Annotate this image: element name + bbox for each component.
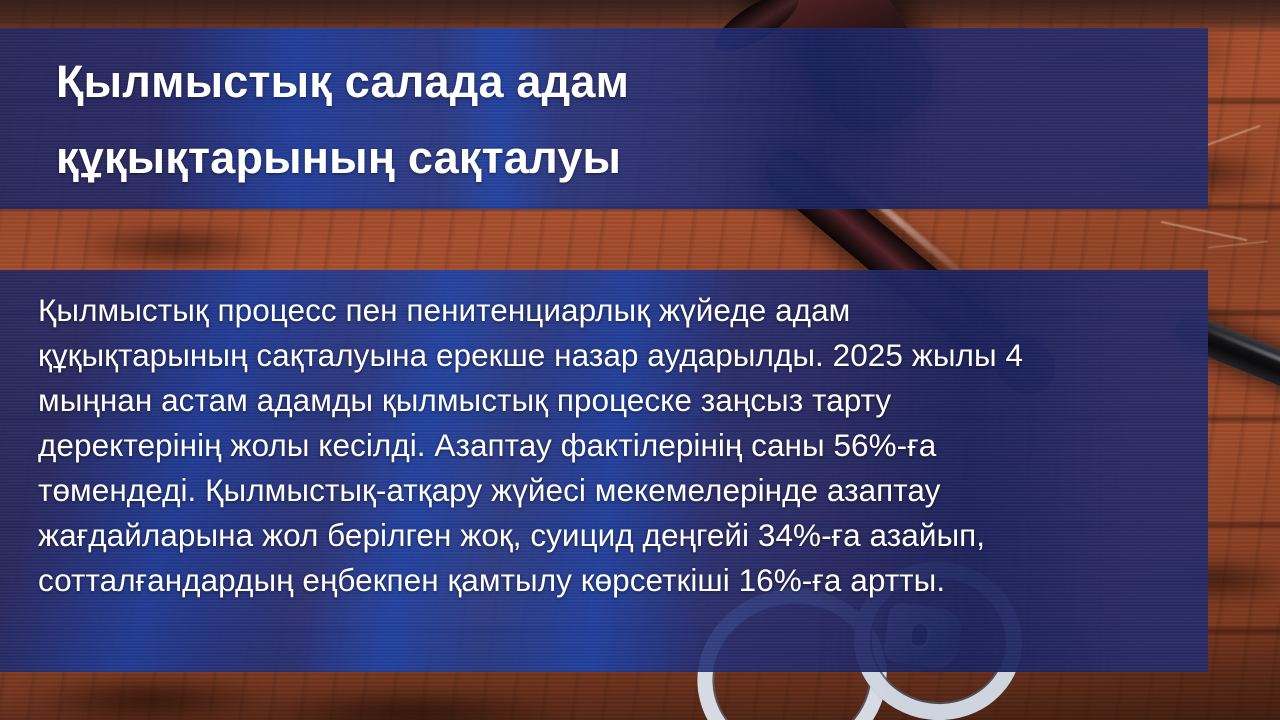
body-paragraph: Қылмыстық процесс пен пенитенциарлық жүй… — [38, 288, 1178, 603]
page-title: Қылмыстық салада адам құқықтарының сақта… — [56, 44, 1106, 196]
wood-grain-knot — [70, 226, 280, 266]
wood-grain-knot — [20, 676, 280, 720]
slide-canvas: Қылмыстық салада адам құқықтарының сақта… — [0, 0, 1280, 720]
